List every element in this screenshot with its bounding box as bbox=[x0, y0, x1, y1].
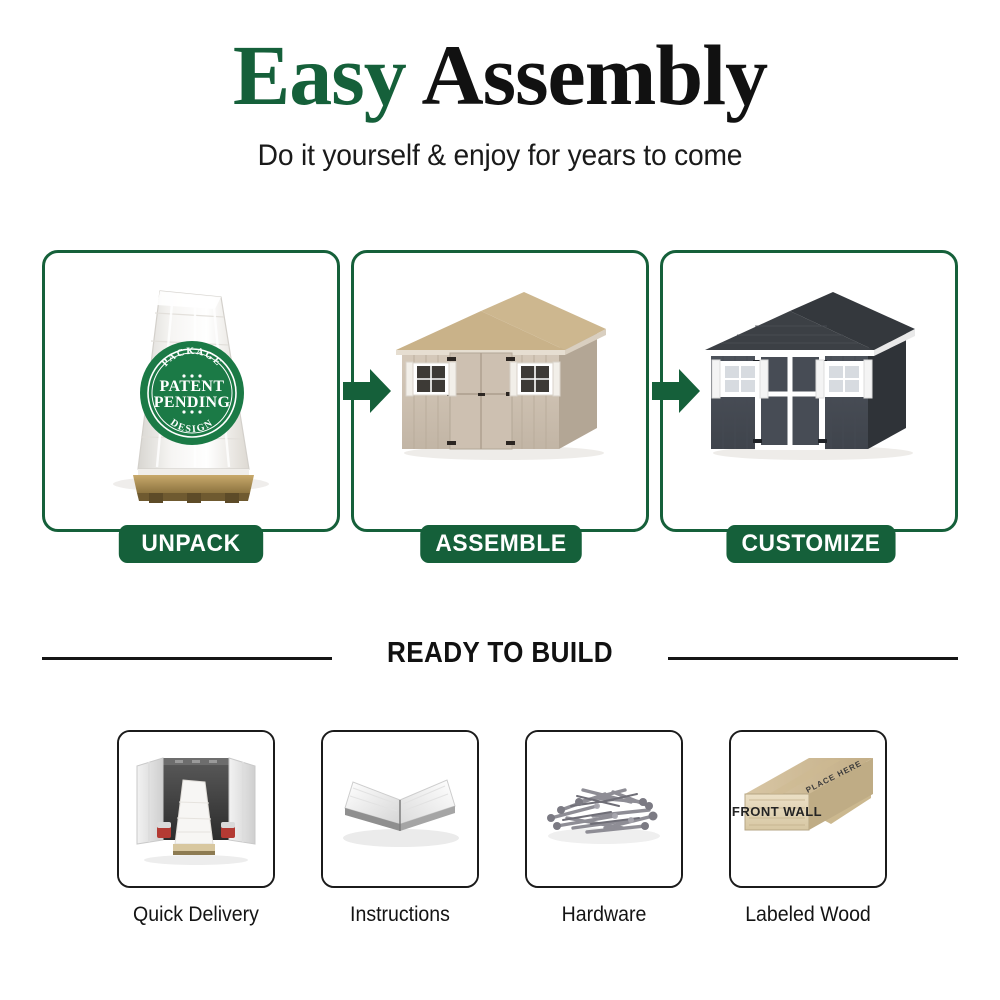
svg-text:PENDING: PENDING bbox=[154, 394, 231, 411]
painted-shed-image bbox=[663, 253, 955, 529]
easy-assembly-infographic: Easy Assembly Do it yourself & enjoy for… bbox=[0, 0, 1000, 1000]
page-subtitle: Do it yourself & enjoy for years to come bbox=[30, 139, 970, 173]
feature-label: Labeled Wood bbox=[735, 903, 882, 927]
arrow-unpack-to-assemble bbox=[339, 363, 395, 419]
feature-labeled-wood[interactable]: FRONT WALL PLACE HERE Labeled Wood bbox=[729, 730, 887, 927]
title-word-easy: Easy bbox=[233, 27, 406, 123]
step-badge-unpack[interactable]: UNPACK bbox=[119, 525, 263, 563]
wrapped-pallet-image: PACKAGE DESIGN PATENT PENDING bbox=[45, 253, 337, 529]
features-row: Quick Delivery bbox=[0, 730, 1000, 940]
steps-row: PACKAGE DESIGN PATENT PENDING bbox=[42, 250, 958, 532]
delivery-truck-image bbox=[117, 730, 275, 888]
step-card-customize[interactable] bbox=[660, 250, 958, 532]
svg-text:PATENT: PATENT bbox=[160, 378, 225, 395]
unfinished-shed-image bbox=[354, 253, 646, 529]
step-card-assemble[interactable] bbox=[351, 250, 649, 532]
feature-label: Hardware bbox=[531, 903, 678, 927]
feature-instructions[interactable]: Instructions bbox=[321, 730, 479, 927]
arrow-assemble-to-customize bbox=[648, 363, 704, 419]
step-badge-assemble[interactable]: ASSEMBLE bbox=[420, 525, 582, 563]
feature-label: Instructions bbox=[327, 903, 474, 927]
feature-label: Quick Delivery bbox=[123, 903, 270, 927]
patent-pending-stamp: PACKAGE DESIGN PATENT PENDING bbox=[140, 341, 244, 445]
title-word-assembly: Assembly bbox=[422, 27, 768, 123]
step-card-unpack[interactable]: PACKAGE DESIGN PATENT PENDING bbox=[42, 250, 340, 532]
nails-pile-image bbox=[525, 730, 683, 888]
page-title: Easy Assembly bbox=[0, 32, 1000, 118]
ready-to-build-divider: READY TO BUILD bbox=[0, 637, 1000, 681]
lumber-end-stamp: FRONT WALL bbox=[732, 804, 822, 819]
feature-quick-delivery[interactable]: Quick Delivery bbox=[117, 730, 275, 927]
labeled-lumber-image: FRONT WALL PLACE HERE bbox=[729, 730, 887, 888]
open-book-image bbox=[321, 730, 479, 888]
ready-to-build-heading: READY TO BUILD bbox=[50, 637, 950, 670]
step-badge-customize[interactable]: CUSTOMIZE bbox=[726, 525, 895, 563]
divider-rule-right bbox=[668, 657, 958, 660]
feature-hardware[interactable]: Hardware bbox=[525, 730, 683, 927]
